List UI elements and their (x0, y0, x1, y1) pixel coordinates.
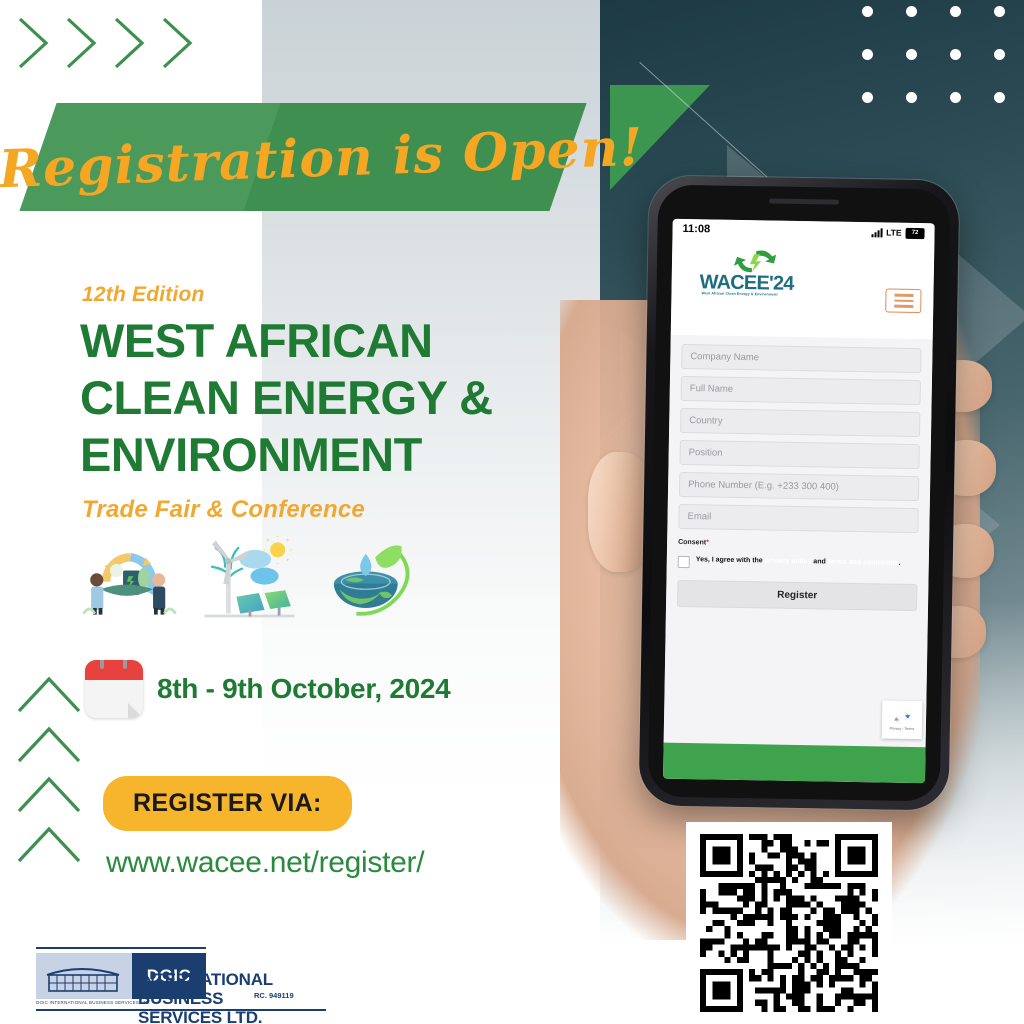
event-date: 8th - 9th October, 2024 (157, 673, 450, 705)
dgic-microtext: DGIC INTERNATIONAL BUSINESS SERVICES LTD… (36, 1000, 151, 1005)
battery-icon: 72 (905, 227, 924, 238)
phone-screen: 11:08 LTE 72 (663, 219, 935, 783)
consent-text-pre: Yes, I agree with the (696, 556, 763, 564)
email-input[interactable]: Email (678, 504, 918, 533)
signal-strength-icon (871, 228, 882, 237)
battery-level: 72 (912, 230, 919, 236)
smartphone-device: 11:08 LTE 72 (639, 175, 960, 810)
wacee-tagline: West African Clean Energy & Environment (701, 291, 777, 296)
network-type-label: LTE (886, 227, 902, 237)
chevron-row-right (14, 14, 198, 72)
wacee-logo: WACEE'24 West African Clean Energy & Env… (699, 251, 810, 295)
illustration-row (78, 528, 418, 624)
company-name-input[interactable]: Company Name (681, 344, 921, 373)
register-submit-button[interactable]: Register (677, 580, 917, 611)
chevron-up-icon (14, 822, 84, 866)
consent-row: Yes, I agree with the privacy policy and… (678, 555, 918, 572)
consent-text-mid: and (813, 558, 826, 565)
consent-text: Yes, I agree with the privacy policy and… (696, 555, 901, 569)
qr-code-container[interactable] (686, 822, 892, 1024)
dgic-logo: DGIC DGIC INTERNATIONAL BUSINESS SERVICE… (18, 935, 308, 1005)
renewable-energy-illustration (197, 532, 298, 624)
app-footer-band (663, 743, 926, 784)
water-earth-illustration (317, 532, 418, 624)
phone-earpiece (769, 198, 839, 204)
phone-number-input[interactable]: Phone Number (E.g. +233 300 400) (679, 472, 919, 501)
phone-bezel: 11:08 LTE 72 (648, 184, 951, 801)
dgic-company-name: DGIC INTERNATIONAL BUSINESS SERVICES LTD… (138, 951, 308, 1024)
recaptcha-label: Privacy - Terms (890, 726, 915, 730)
title-line-1: WEST AFRICAN (80, 312, 550, 369)
chevron-up-icon (14, 772, 84, 816)
chevron-right-icon (158, 14, 198, 72)
recaptcha-badge[interactable]: Privacy - Terms (882, 700, 923, 739)
terms-conditions-link[interactable]: terms and conditions (828, 559, 899, 567)
banner-headline: Registration is Open! (85, 104, 558, 212)
dgic-name-line-1: DGIC INTERNATIONAL (138, 951, 308, 989)
chevron-column-up (14, 672, 84, 866)
full-name-input[interactable]: Full Name (681, 376, 921, 405)
decorative-dot-grid (862, 6, 1022, 118)
chevron-up-icon (14, 672, 84, 716)
recaptcha-icon (893, 709, 911, 725)
status-time: 11:08 (682, 223, 710, 235)
status-indicators: LTE 72 (871, 227, 925, 239)
sponsor-bar: DGIC DGIC INTERNATIONAL BUSINESS SERVICE… (0, 925, 600, 1024)
poster-canvas: Registration is Open! 12th Edition WEST … (0, 0, 1024, 1024)
position-input[interactable]: Position (679, 440, 919, 469)
event-subtitle: Trade Fair & Conference (82, 496, 365, 524)
consent-text-end: . (898, 560, 900, 567)
registration-url-link[interactable]: www.wacee.net/register/ (106, 846, 424, 880)
consent-label-text: Consent (678, 539, 706, 546)
consent-required-asterisk: * (706, 539, 709, 546)
chevron-right-icon (14, 14, 54, 72)
dgic-building-mark (36, 953, 132, 999)
chevron-right-icon (62, 14, 102, 72)
qr-code-icon (700, 834, 878, 1012)
chevron-up-icon (14, 722, 84, 766)
circular-economy-illustration (78, 532, 179, 624)
register-via-button[interactable]: REGISTER VIA: (103, 776, 352, 831)
hamburger-menu-icon[interactable] (885, 288, 921, 313)
app-header: WACEE'24 West African Clean Energy & Env… (671, 239, 935, 340)
chevron-right-icon (110, 14, 150, 72)
dgic-rc-number: RC. 949119 (254, 991, 294, 1000)
recycle-arrow-icon (732, 248, 778, 275)
registration-form: Company Name Full Name Country Position … (664, 335, 933, 748)
edition-label: 12th Edition (82, 283, 205, 307)
consent-label: Consent* (678, 539, 918, 550)
calendar-icon (85, 660, 143, 718)
consent-checkbox[interactable] (678, 556, 690, 568)
country-input[interactable]: Country (680, 408, 920, 437)
event-date-row: 8th - 9th October, 2024 (85, 660, 450, 718)
title-line-2: CLEAN ENERGY & (80, 369, 550, 426)
title-line-3: ENVIRONMENT (80, 426, 550, 483)
privacy-policy-link[interactable]: privacy policy (765, 557, 812, 565)
page-title: WEST AFRICAN CLEAN ENERGY & ENVIRONMENT (80, 312, 550, 483)
